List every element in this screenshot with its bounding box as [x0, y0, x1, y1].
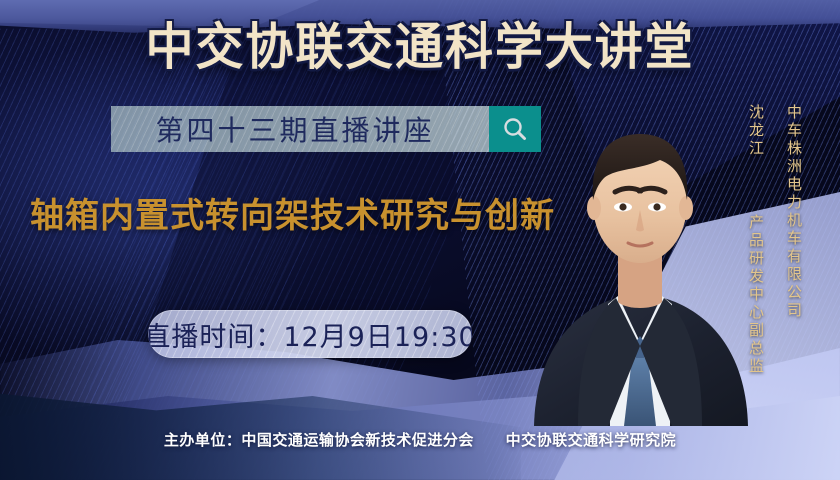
livestream-poster: 中交协联交通科学大讲堂 第四十三期直播讲座 轴箱内置式转向架技术研究与创新 直播…	[0, 0, 840, 480]
schedule-text: 直播时间：12月9日19:30	[148, 315, 472, 354]
episode-banner: 第四十三期直播讲座	[111, 106, 541, 152]
speaker-name: 沈龙江	[747, 104, 765, 158]
speaker-identity: 沈龙江 产品研发中心副总监	[746, 104, 766, 376]
footer: 主办单位：中国交通运输协会新技术促进分会 中交协联交通科学研究院	[0, 429, 840, 450]
topic-title: 轴箱内置式转向架技术研究与创新	[30, 194, 555, 238]
speaker-portrait	[520, 96, 760, 426]
search-button[interactable]	[489, 106, 541, 152]
speaker-title: 产品研发中心副总监	[747, 214, 765, 376]
speaker-company: 中车株洲电力机车有限公司	[784, 104, 804, 320]
page-title: 中交协联交通科学大讲堂	[17, 16, 823, 78]
organizer-text: 主办单位：中国交通运输协会新技术促进分会	[164, 431, 474, 449]
co-organizer-text: 中交协联交通科学研究院	[506, 431, 677, 449]
episode-label: 第四十三期直播讲座	[111, 109, 489, 149]
search-icon	[502, 116, 528, 142]
schedule-pill: 直播时间：12月9日19:30	[148, 310, 472, 358]
